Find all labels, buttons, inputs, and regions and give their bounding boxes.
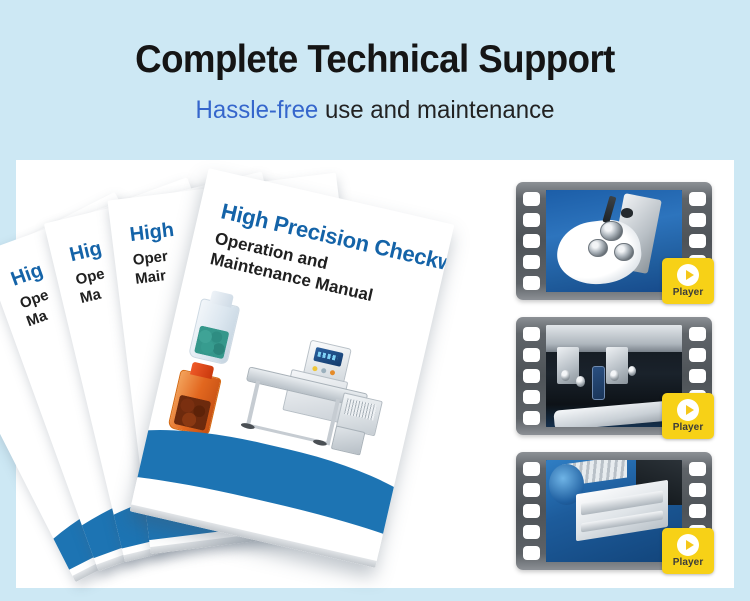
sprocket-hole-icon bbox=[523, 213, 540, 227]
player-label: Player bbox=[673, 422, 704, 434]
sprocket-hole-icon bbox=[523, 462, 540, 476]
play-video-button-3[interactable]: Player bbox=[662, 528, 714, 574]
sprocket-hole-icon bbox=[689, 213, 706, 227]
manual-sub-line2: Ma bbox=[78, 285, 102, 306]
page-subtitle-accent: Hassle-free bbox=[196, 96, 319, 124]
sprocket-hole-icon bbox=[523, 390, 540, 404]
sprocket-hole-icon bbox=[523, 411, 540, 425]
sprocket-hole-icon bbox=[523, 255, 540, 269]
manual-stack: Hig Ope M Hig Ope Ma Hig bbox=[58, 178, 458, 578]
machine-knob bbox=[621, 208, 633, 217]
play-video-button-1[interactable]: Player bbox=[662, 258, 714, 304]
player-label: Player bbox=[673, 287, 704, 299]
sprocket-hole-icon bbox=[523, 234, 540, 248]
play-triangle-icon bbox=[686, 540, 694, 550]
bottle-cap bbox=[190, 361, 215, 379]
machine-display-screen bbox=[313, 347, 343, 367]
manual-sub-line2: Mair bbox=[134, 267, 167, 288]
bottle-cap bbox=[210, 290, 234, 307]
manual-sub-line1: Ope bbox=[18, 286, 51, 312]
manual-title-back-1: High bbox=[129, 219, 176, 247]
sprocket-hole-icon bbox=[689, 327, 706, 341]
play-icon bbox=[677, 264, 699, 286]
bolt bbox=[628, 366, 636, 376]
manual-sub-line1: Oper bbox=[132, 248, 169, 269]
sprocket-hole-icon bbox=[689, 462, 706, 476]
sprocket-hole-icon bbox=[523, 525, 540, 539]
sprocket-hole-icon bbox=[689, 234, 706, 248]
play-triangle-icon bbox=[686, 405, 694, 415]
machine-button-orange bbox=[329, 370, 335, 376]
green-pill-bottle-icon bbox=[188, 298, 240, 365]
bolt bbox=[576, 376, 586, 387]
page-subtitle: Hassle-free use and maintenance bbox=[15, 82, 735, 125]
machine-button-gray bbox=[321, 368, 327, 374]
play-triangle-icon bbox=[686, 270, 694, 280]
sprocket-hole-icon bbox=[523, 369, 540, 383]
video-thumbnail-1[interactable]: Player bbox=[516, 182, 712, 300]
page-subtitle-rest: use and maintenance bbox=[318, 96, 554, 124]
sprocket-hole-icon bbox=[523, 483, 540, 497]
page-root: Complete Technical Support Hassle-free u… bbox=[0, 0, 750, 601]
sprocket-hole-icon bbox=[523, 192, 540, 206]
manual-subtitle-back-1: Oper Mair bbox=[132, 248, 171, 289]
sprocket-hole-icon bbox=[523, 327, 540, 341]
play-icon bbox=[677, 399, 699, 421]
sprocket-hole-icon bbox=[689, 483, 706, 497]
sprocket-hole-icon bbox=[689, 369, 706, 383]
sprocket-hole-icon bbox=[523, 504, 540, 518]
bottle-pills bbox=[173, 395, 211, 431]
content-card: Hig Ope M Hig Ope Ma Hig bbox=[16, 160, 734, 588]
player-label: Player bbox=[673, 557, 704, 569]
metal-fitting bbox=[614, 243, 634, 261]
bottle-pills bbox=[194, 325, 230, 359]
sprocket-hole-icon bbox=[689, 504, 706, 518]
video-thumbnail-3[interactable]: Player bbox=[516, 452, 712, 570]
video-list: Player bbox=[516, 182, 726, 587]
play-video-button-2[interactable]: Player bbox=[662, 393, 714, 439]
machine-button-yellow bbox=[312, 366, 318, 372]
red-pill-bottle-icon bbox=[167, 369, 221, 437]
sprocket-hole-icon bbox=[689, 192, 706, 206]
page-title: Complete Technical Support bbox=[23, 0, 728, 82]
sprocket-hole-icon bbox=[523, 276, 540, 290]
machine-rod bbox=[602, 196, 616, 223]
manual-subtitle-back-3: Ope Ma bbox=[18, 286, 58, 331]
video-thumbnail-2[interactable]: Player bbox=[516, 317, 712, 435]
sprocket-hole-icon bbox=[523, 348, 540, 362]
play-icon bbox=[677, 534, 699, 556]
sprocket-column-left bbox=[518, 459, 544, 563]
metal-fitting bbox=[600, 221, 622, 241]
manual-title-back-2: Hig bbox=[67, 237, 104, 267]
sprocket-column-left bbox=[518, 324, 544, 428]
sprocket-hole-icon bbox=[689, 348, 706, 362]
sprocket-column-left bbox=[518, 189, 544, 293]
page-header: Complete Technical Support Hassle-free u… bbox=[0, 0, 750, 158]
clamp-latch bbox=[592, 366, 605, 401]
sprocket-hole-icon bbox=[523, 546, 540, 560]
manual-sub-line1: Ope bbox=[74, 265, 106, 288]
manual-subtitle-back-2: Ope Ma bbox=[74, 265, 111, 308]
metal-fitting bbox=[588, 239, 608, 257]
